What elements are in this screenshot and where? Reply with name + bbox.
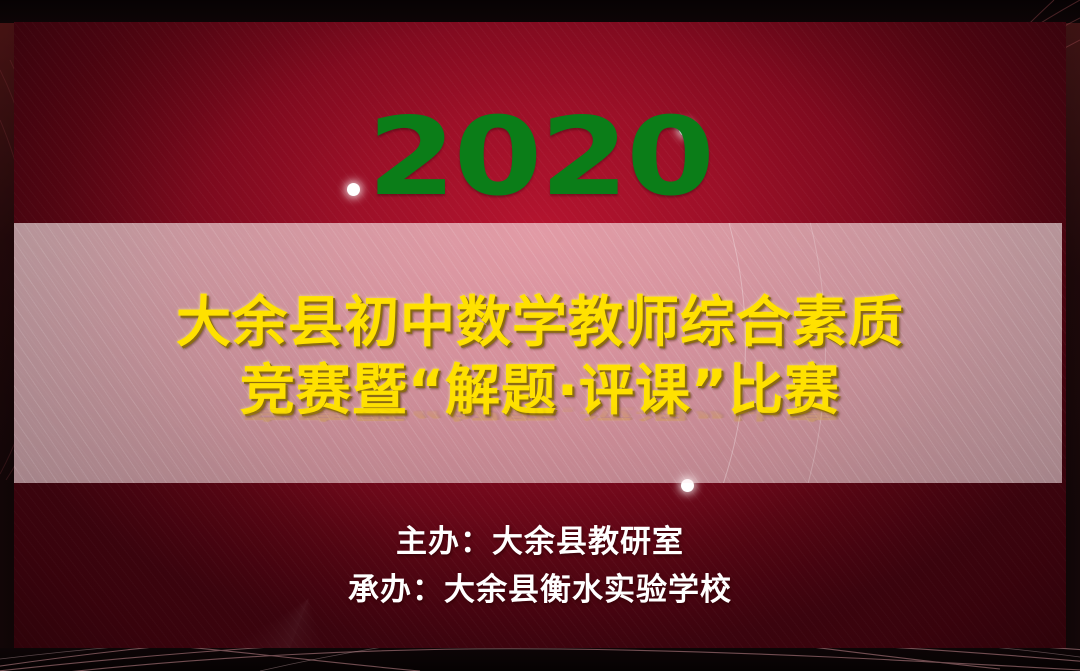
main-title: 大余县初中数学教师综合素质 竞赛暨“解题·评课”比赛竞赛暨“解题·评课”比赛 xyxy=(0,288,1080,424)
year-heading: 2020 xyxy=(0,104,1080,212)
frame-top-edge xyxy=(0,0,1080,23)
title-line-1: 大余县初中数学教师综合素质 xyxy=(0,288,1080,356)
title-reflection: 竞赛暨“解题·评课”比赛 xyxy=(0,395,1080,424)
frame-bottom-edge xyxy=(0,648,1080,671)
organizer-host: 主办：大余县教研室 xyxy=(0,518,1080,566)
slide-canvas: 2020 大余县初中数学教师综合素质 竞赛暨“解题·评课”比赛竞赛暨“解题·评课… xyxy=(0,0,1080,671)
organizer-block: 主办：大余县教研室 承办：大余县衡水实验学校 xyxy=(0,518,1080,614)
title-line-2: 竞赛暨“解题·评课”比赛竞赛暨“解题·评课”比赛 xyxy=(0,356,1080,424)
organizer-coordinator: 承办：大余县衡水实验学校 xyxy=(0,566,1080,614)
